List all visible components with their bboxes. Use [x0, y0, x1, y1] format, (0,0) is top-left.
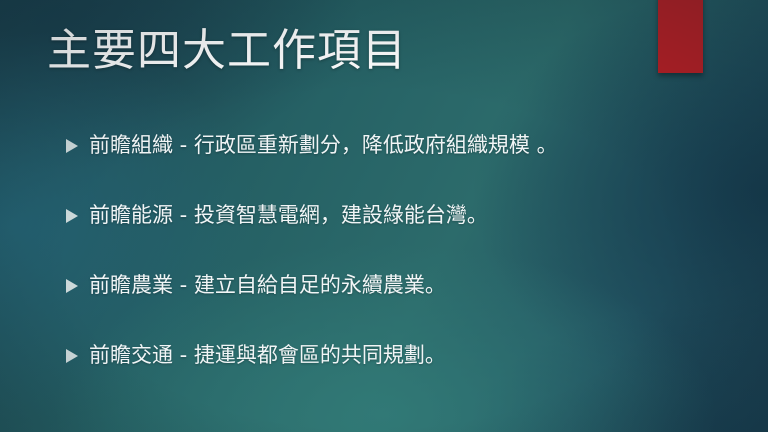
accent-bar-decoration	[658, 0, 703, 73]
bullet-list: 前瞻組織 - 行政區重新劃分，降低政府組織規模 。 前瞻能源 - 投資智慧電網，…	[66, 130, 728, 410]
triangle-right-icon	[66, 209, 78, 223]
list-item: 前瞻能源 - 投資智慧電網，建設綠能台灣。	[66, 200, 728, 270]
triangle-right-icon	[66, 279, 78, 293]
triangle-right-icon	[66, 349, 78, 363]
list-item-label: 前瞻交通 - 捷運與都會區的共同規劃。	[89, 340, 728, 370]
slide-title: 主要四大工作項目	[47, 22, 407, 80]
list-item: 前瞻交通 - 捷運與都會區的共同規劃。	[66, 340, 728, 410]
list-item-label: 前瞻農業 - 建立自給自足的永續農業。	[89, 270, 728, 300]
list-item-label: 前瞻組織 - 行政區重新劃分，降低政府組織規模 。	[89, 130, 728, 160]
list-item-label: 前瞻能源 - 投資智慧電網，建設綠能台灣。	[89, 200, 728, 230]
list-item: 前瞻組織 - 行政區重新劃分，降低政府組織規模 。	[66, 130, 728, 200]
triangle-right-icon	[66, 139, 78, 153]
presentation-slide: 主要四大工作項目 前瞻組織 - 行政區重新劃分，降低政府組織規模 。 前瞻能源 …	[0, 0, 768, 432]
list-item: 前瞻農業 - 建立自給自足的永續農業。	[66, 270, 728, 340]
